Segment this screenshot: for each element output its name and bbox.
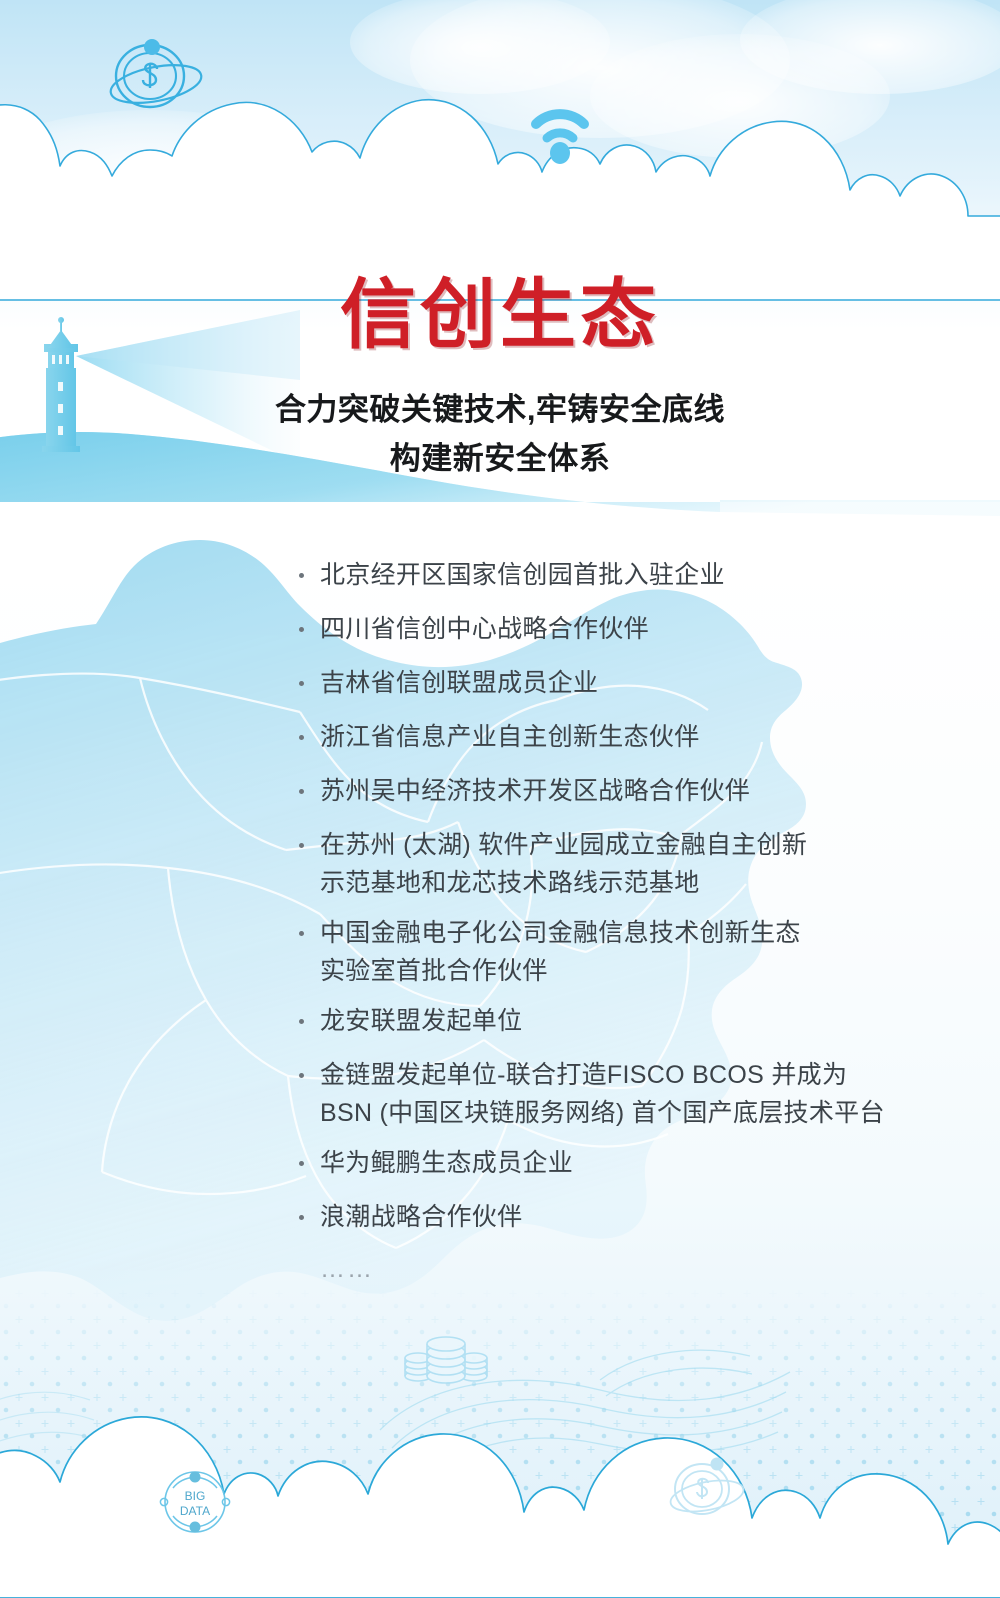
- subtitle-line-1: 合力突破关键技术,牢铸安全底线: [0, 385, 1000, 434]
- list-item-line: 中国金融电子化公司金融信息技术创新生态: [320, 914, 936, 952]
- achievement-bullet-list: 北京经开区国家信创园首批入驻企业 四川省信创中心战略合作伙伴 吉林省信创联盟成员…: [296, 556, 936, 1286]
- list-item: 金链盟发起单位-联合打造FISCO BCOS 并成为 BSN (中国区块链服务网…: [296, 1056, 936, 1132]
- list-item: 四川省信创中心战略合作伙伴: [296, 610, 936, 648]
- list-item-line: 吉林省信创联盟成员企业: [320, 664, 936, 702]
- content-area: 信创生态 合力突破关键技术,牢铸安全底线 构建新安全体系 北京经开区国家信创园首…: [0, 0, 1000, 1598]
- list-item: 浙江省信息产业自主创新生态伙伴: [296, 718, 936, 756]
- list-item-line: BSN (中国区块链服务网络) 首个国产底层技术平台: [320, 1094, 936, 1132]
- subtitle-line-2: 构建新安全体系: [0, 434, 1000, 483]
- list-item: 中国金融电子化公司金融信息技术创新生态 实验室首批合作伙伴: [296, 914, 936, 990]
- list-item: 在苏州 (太湖) 软件产业园成立金融自主创新 示范基地和龙芯技术路线示范基地: [296, 826, 936, 902]
- list-item-line: 实验室首批合作伙伴: [320, 952, 936, 990]
- list-item: 苏州吴中经济技术开发区战略合作伙伴: [296, 772, 936, 810]
- list-item: 浪潮战略合作伙伴: [296, 1198, 936, 1236]
- page-title: 信创生态: [0, 278, 1000, 354]
- list-item-line: 北京经开区国家信创园首批入驻企业: [320, 556, 936, 594]
- list-item-line: 苏州吴中经济技术开发区战略合作伙伴: [320, 772, 936, 810]
- list-item-line: 华为鲲鹏生态成员企业: [320, 1144, 936, 1182]
- list-item-line: 示范基地和龙芯技术路线示范基地: [320, 864, 936, 902]
- list-item-line: 在苏州 (太湖) 软件产业园成立金融自主创新: [320, 826, 936, 864]
- subtitle-block: 合力突破关键技术,牢铸安全底线 构建新安全体系: [0, 385, 1000, 483]
- list-item-line: 四川省信创中心战略合作伙伴: [320, 610, 936, 648]
- list-item-line: 浪潮战略合作伙伴: [320, 1198, 936, 1236]
- list-item: 华为鲲鹏生态成员企业: [296, 1144, 936, 1182]
- list-item: 北京经开区国家信创园首批入驻企业: [296, 556, 936, 594]
- list-item-line: 龙安联盟发起单位: [320, 1002, 936, 1040]
- list-item-line: 金链盟发起单位-联合打造FISCO BCOS 并成为: [320, 1056, 936, 1094]
- list-item-line: 浙江省信息产业自主创新生态伙伴: [320, 718, 936, 756]
- list-item: 吉林省信创联盟成员企业: [296, 664, 936, 702]
- list-ellipsis: ……: [296, 1252, 936, 1286]
- list-item: 龙安联盟发起单位: [296, 1002, 936, 1040]
- poster-root: BIG DATA 信创生态 合力突破关键技术,牢铸安全底线 构建新安全体系 北京…: [0, 0, 1000, 1598]
